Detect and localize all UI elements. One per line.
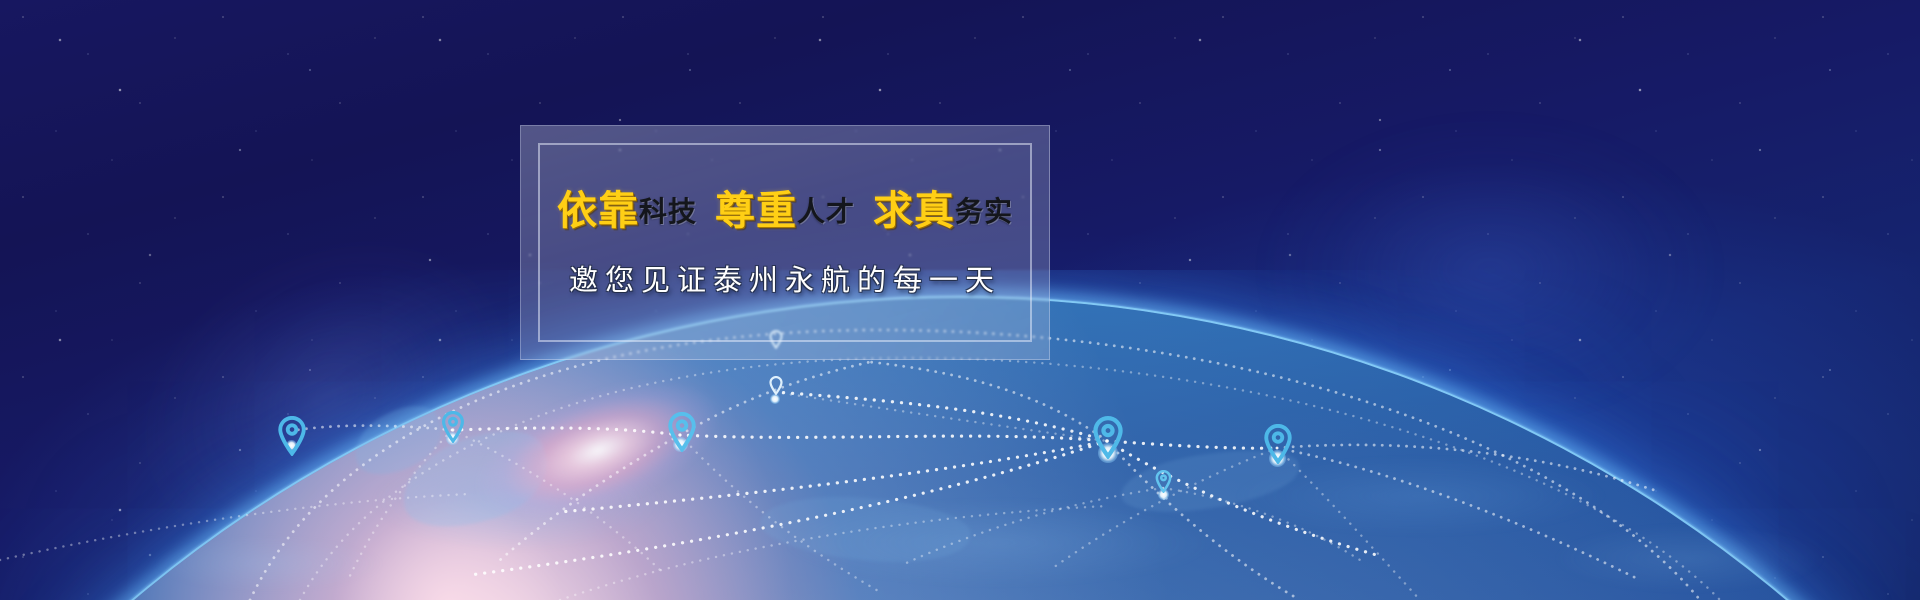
slogan-segment-yikao: 依靠: [557, 187, 639, 234]
slogan-segment-qiuzhen: 求真: [873, 187, 955, 234]
slogan-segment-zunzhong: 尊重: [715, 187, 797, 234]
slogan-line-1: 依靠科技尊重人才求真务实: [557, 191, 1013, 231]
slogan-line-2: 邀您见证泰州永航的每一天: [569, 257, 1001, 299]
slogan-segment-wushi: 务实: [955, 195, 1013, 228]
slogan-segment-keji: 科技: [639, 195, 697, 228]
slogan-panel: 依靠科技尊重人才求真务实 邀您见证泰州永航的每一天: [520, 125, 1050, 360]
hero-banner: .arc{fill:none;stroke:#ffffff;stroke-lin…: [0, 0, 1920, 600]
slogan-panel-inner-border: 依靠科技尊重人才求真务实 邀您见证泰州永航的每一天: [538, 143, 1032, 342]
slogan-segment-rencai: 人才: [797, 195, 855, 228]
